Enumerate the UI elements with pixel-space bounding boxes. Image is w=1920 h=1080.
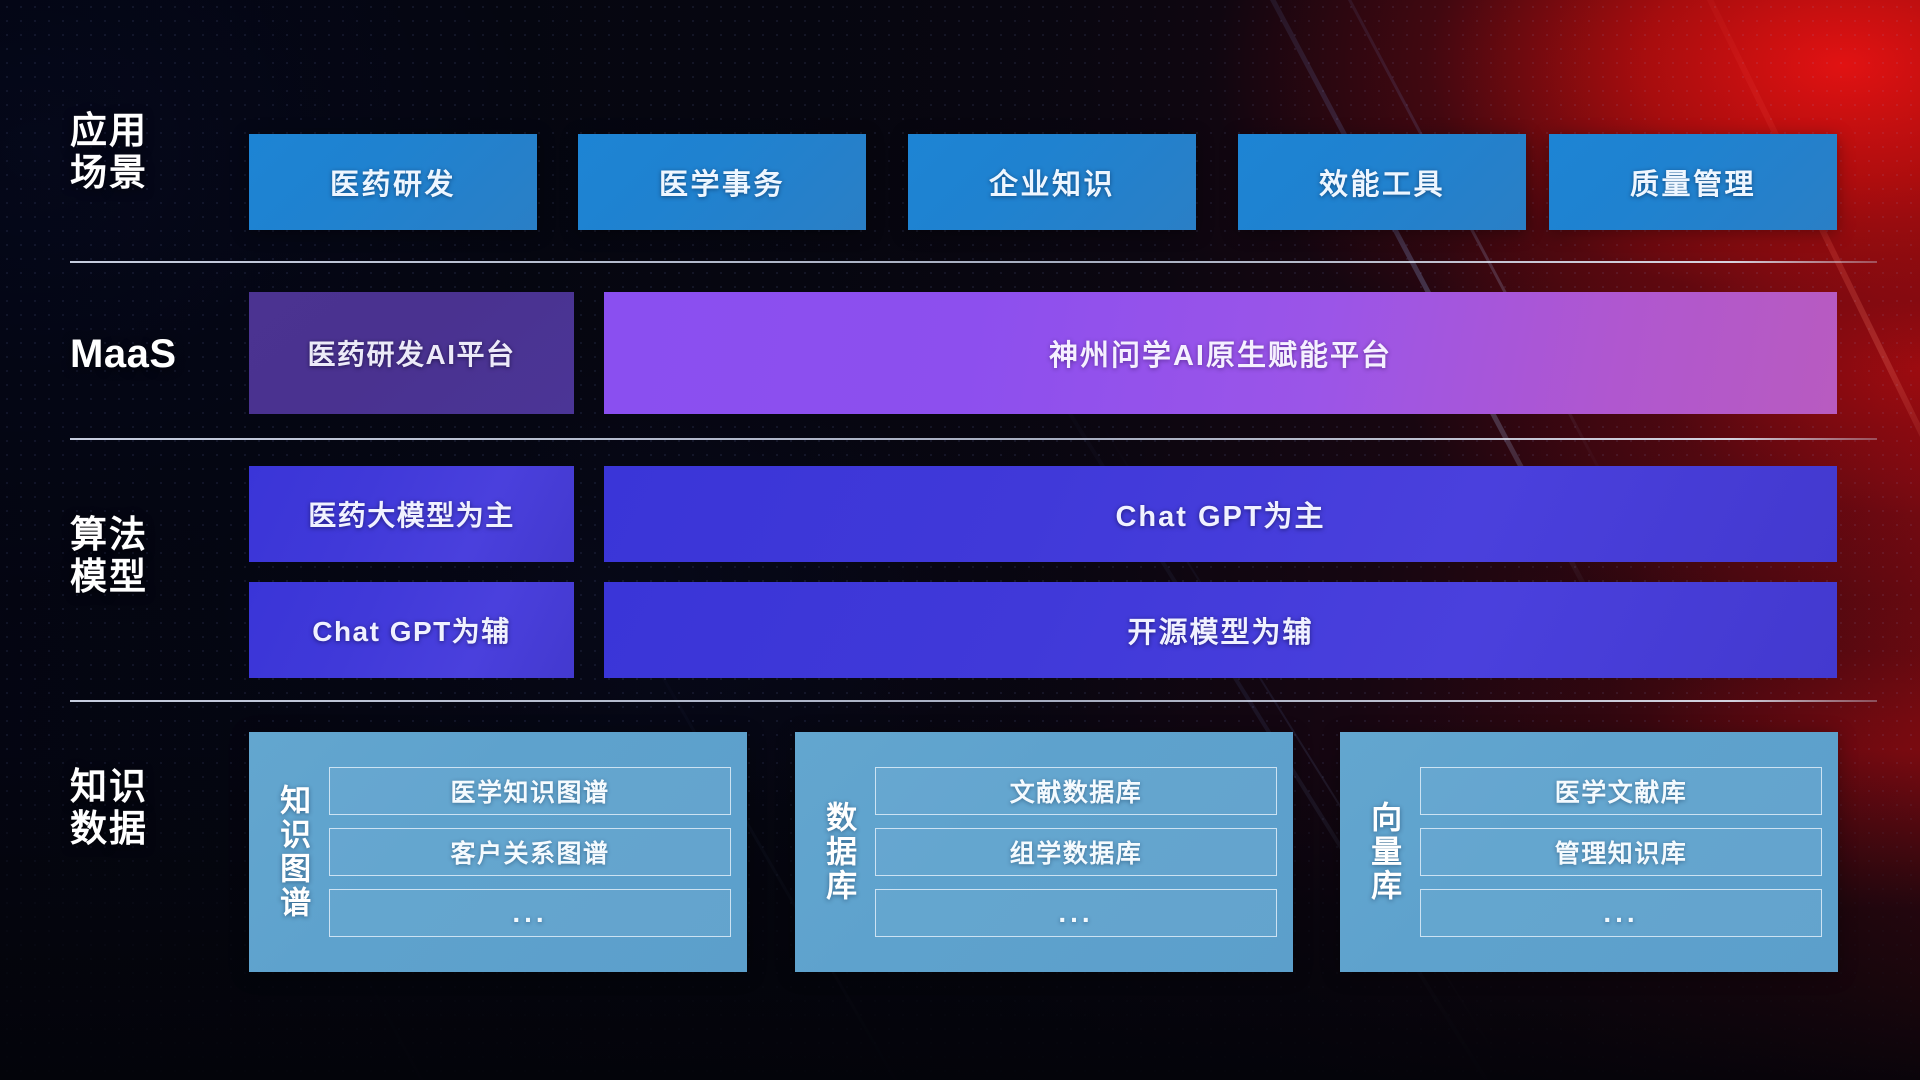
- app-scenario-label: 医药研发: [330, 161, 456, 203]
- app-scenario-label: 医学事务: [659, 161, 785, 203]
- algo-box-label: 开源模型为辅: [1127, 609, 1313, 651]
- knowledge-item[interactable]: 组学数据库: [875, 828, 1277, 876]
- knowledge-group-vertical-label: 向量库: [1352, 801, 1414, 903]
- maas-box-shenzhou-wenxue-platform[interactable]: 神州问学AI原生赋能平台: [604, 292, 1837, 414]
- row-label-maas: MaaS: [70, 332, 240, 378]
- knowledge-item[interactable]: 医学文献库: [1420, 767, 1822, 815]
- divider-application-maas: [70, 261, 1877, 263]
- row-label-knowledge-data: 知识 数据: [70, 766, 240, 850]
- algo-box-medicine-large-model-primary[interactable]: 医药大模型为主: [249, 466, 574, 562]
- row-label-line-2: 场景: [70, 152, 240, 194]
- algo-box-chatgpt-primary[interactable]: Chat GPT为主: [604, 466, 1837, 562]
- knowledge-group-database[interactable]: 数据库 文献数据库 组学数据库 ...: [795, 732, 1293, 972]
- app-scenario-label: 质量管理: [1630, 161, 1756, 203]
- row-label-line-1: 算法: [70, 514, 240, 556]
- knowledge-group-vertical-label: 知识图谱: [261, 784, 323, 920]
- app-scenario-box-enterprise-knowledge[interactable]: 企业知识: [908, 134, 1196, 230]
- row-label-line-2: 数据: [70, 808, 240, 850]
- knowledge-group-vertical-label: 数据库: [807, 801, 869, 903]
- knowledge-group-item-list: 医学文献库 管理知识库 ...: [1420, 746, 1822, 958]
- algo-box-label: Chat GPT为辅: [312, 610, 511, 650]
- row-label-application-scenarios: 应用 场景: [70, 110, 240, 194]
- algo-box-opensource-model-secondary[interactable]: 开源模型为辅: [604, 582, 1837, 678]
- divider-algorithm-knowledge: [70, 700, 1877, 702]
- algo-box-chatgpt-secondary[interactable]: Chat GPT为辅: [249, 582, 574, 678]
- app-scenario-box-efficiency-tools[interactable]: 效能工具: [1238, 134, 1526, 230]
- app-scenario-box-quality-management[interactable]: 质量管理: [1549, 134, 1837, 230]
- maas-box-label: 医药研发AI平台: [307, 333, 515, 373]
- knowledge-item-more[interactable]: ...: [1420, 889, 1822, 937]
- row-label-line-2: 模型: [70, 556, 240, 598]
- maas-box-label: 神州问学AI原生赋能平台: [1049, 332, 1392, 374]
- knowledge-item[interactable]: 文献数据库: [875, 767, 1277, 815]
- row-label-line-1: 知识: [70, 766, 240, 808]
- app-scenario-label: 企业知识: [989, 161, 1115, 203]
- app-scenario-box-medical-affairs[interactable]: 医学事务: [578, 134, 866, 230]
- row-label-algorithm-models: 算法 模型: [70, 514, 240, 598]
- knowledge-group-vector-store[interactable]: 向量库 医学文献库 管理知识库 ...: [1340, 732, 1838, 972]
- algo-box-label: Chat GPT为主: [1115, 493, 1325, 535]
- app-scenario-label: 效能工具: [1319, 161, 1445, 203]
- knowledge-group-item-list: 文献数据库 组学数据库 ...: [875, 746, 1277, 958]
- knowledge-group-item-list: 医学知识图谱 客户关系图谱 ...: [329, 746, 731, 958]
- row-label-line-1: 应用: [70, 110, 240, 152]
- app-scenario-box-medicine-rd[interactable]: 医药研发: [249, 134, 537, 230]
- knowledge-item[interactable]: 管理知识库: [1420, 828, 1822, 876]
- diagram-content: 应用 场景 医药研发 医学事务 企业知识 效能工具 质量管理 MaaS: [0, 0, 1920, 1080]
- divider-maas-algorithm: [70, 438, 1877, 440]
- knowledge-item[interactable]: 客户关系图谱: [329, 828, 731, 876]
- maas-box-medicine-rd-ai-platform[interactable]: 医药研发AI平台: [249, 292, 574, 414]
- knowledge-group-knowledge-graph[interactable]: 知识图谱 医学知识图谱 客户关系图谱 ...: [249, 732, 747, 972]
- knowledge-item-more[interactable]: ...: [875, 889, 1277, 937]
- algo-box-label: 医药大模型为主: [308, 494, 515, 534]
- architecture-diagram-stage: 应用 场景 医药研发 医学事务 企业知识 效能工具 质量管理 MaaS: [0, 0, 1920, 1080]
- knowledge-item[interactable]: 医学知识图谱: [329, 767, 731, 815]
- knowledge-item-more[interactable]: ...: [329, 889, 731, 937]
